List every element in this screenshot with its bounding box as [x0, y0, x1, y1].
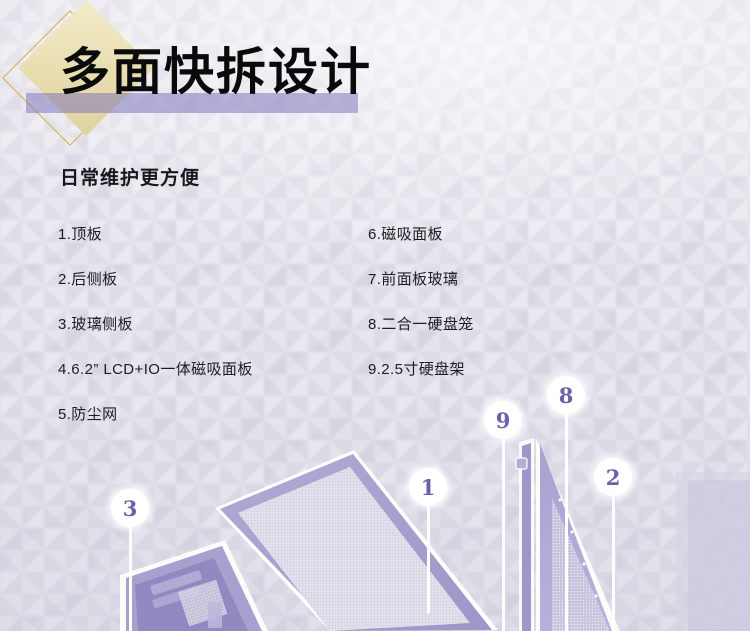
list-item: 3.玻璃侧板 — [58, 316, 358, 361]
list-item: 7.前面板玻璃 — [368, 271, 668, 316]
list-item: 1.顶板 — [58, 226, 358, 271]
side-panel-graphic — [516, 438, 750, 631]
list-item: 6.磁吸面板 — [368, 226, 668, 271]
header: 多面快拆设计 — [0, 0, 750, 160]
callout-stem — [129, 525, 132, 631]
mesh-panel-graphic — [215, 450, 498, 631]
callout-badge[interactable]: 8 — [547, 376, 585, 414]
callout-stem — [565, 412, 568, 631]
callout-badge[interactable]: 3 — [111, 489, 149, 527]
callout-badge[interactable]: 2 — [594, 458, 632, 496]
chassis-body-graphic — [120, 540, 268, 631]
parts-list-right-column: 6.磁吸面板 7.前面板玻璃 8.二合一硬盘笼 9.2.5寸硬盘架 — [368, 226, 668, 406]
page-subtitle: 日常维护更方便 — [60, 163, 200, 190]
page-title: 多面快拆设计 — [60, 40, 372, 104]
list-item: 8.二合一硬盘笼 — [368, 316, 668, 361]
callout-badge[interactable]: 1 — [409, 468, 447, 506]
callout-stem — [612, 494, 615, 631]
callout-badge[interactable]: 9 — [484, 401, 522, 439]
callout-stem — [427, 504, 430, 614]
list-item: 2.后侧板 — [58, 271, 358, 316]
callout-stem — [502, 437, 505, 631]
product-detail-page: 多面快拆设计 日常维护更方便 1.顶板 2.后侧板 3.玻璃侧板 4.6.2” … — [0, 0, 750, 631]
